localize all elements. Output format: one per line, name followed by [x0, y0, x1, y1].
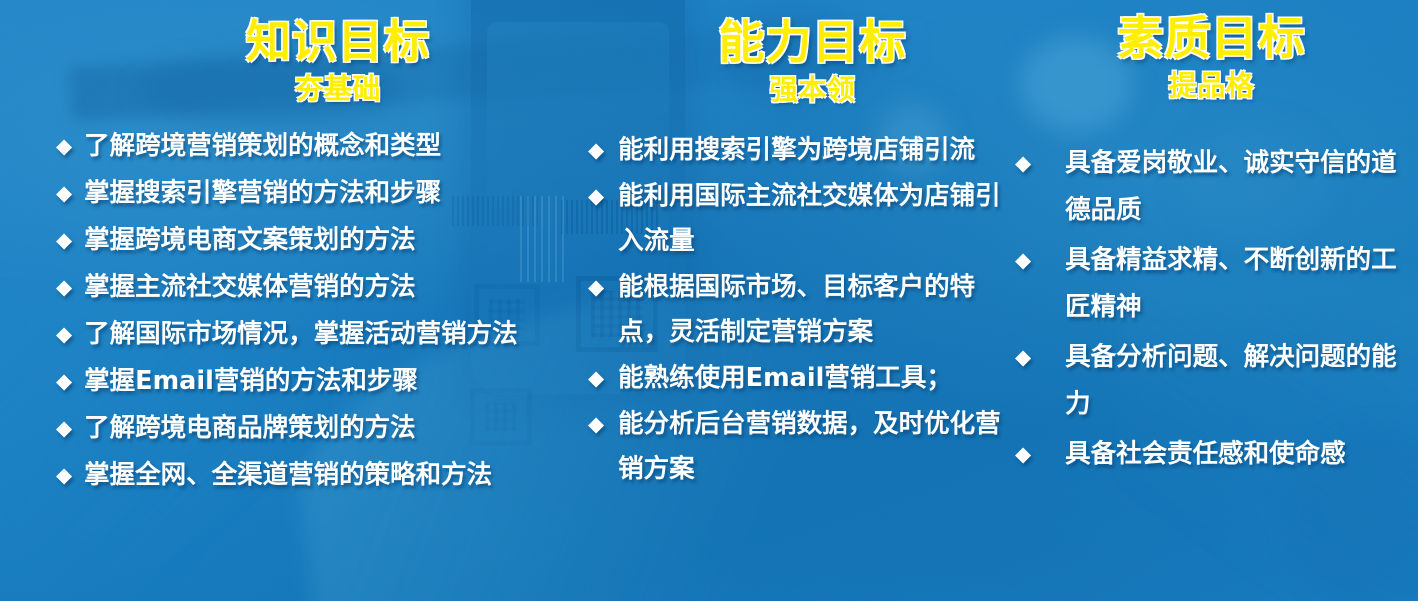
- diamond-bullet-icon: ◆: [56, 405, 72, 451]
- diamond-bullet-icon: ◆: [56, 264, 72, 310]
- diamond-bullet-icon: ◆: [588, 265, 604, 310]
- list-item-text: 具备精益求精、不断创新的工匠精神: [1065, 237, 1418, 331]
- diamond-bullet-icon: ◆: [588, 128, 604, 173]
- column-title-ability: 能力目标: [610, 18, 1015, 66]
- list-item-text: 能利用国际主流社交媒体为店铺引入流量: [618, 174, 1015, 264]
- diamond-bullet-icon: ◆: [1015, 431, 1031, 478]
- list-item: ◆ 了解跨境电商品牌策划的方法: [56, 405, 600, 451]
- list-item: ◆ 掌握Email营销的方法和步骤: [56, 358, 600, 404]
- diamond-bullet-icon: ◆: [588, 402, 604, 447]
- list-item-text: 具备爱岗敬业、诚实守信的道德品质: [1065, 140, 1418, 234]
- heading-block-quality: 素质目标 提品格: [1005, 0, 1418, 104]
- list-item-text: 具备社会责任感和使命感: [1065, 431, 1418, 478]
- list-item: ◆ 能分析后台营销数据，及时优化营销方案: [588, 402, 1015, 492]
- list-item: ◆ 掌握跨境电商文案策划的方法: [56, 217, 600, 263]
- list-item: ◆ 能利用搜索引擎为跨境店铺引流: [588, 128, 1015, 173]
- list-item-text: 了解跨境营销策划的概念和类型: [84, 123, 600, 169]
- list-item-text: 了解跨境电商品牌策划的方法: [84, 405, 600, 451]
- diamond-bullet-icon: ◆: [1015, 237, 1031, 284]
- list-item: ◆ 具备分析问题、解决问题的能力: [1015, 334, 1418, 428]
- column-quality-goals: 素质目标 提品格 ◆ 具备爱岗敬业、诚实守信的道德品质 ◆ 具备精益求精、不断创…: [1005, 0, 1418, 601]
- list-item: ◆ 具备精益求精、不断创新的工匠精神: [1015, 237, 1418, 331]
- list-item-text: 能根据国际市场、目标客户的特点，灵活制定营销方案: [618, 265, 1015, 355]
- column-knowledge-goals: 知识目标 夯基础 ◆ 了解跨境营销策划的概念和类型 ◆ 掌握搜索引擎营销的方法和…: [40, 0, 600, 601]
- list-item-text: 能熟练使用Email营销工具；: [618, 356, 1015, 401]
- column-ability-goals: 能力目标 强本领 ◆ 能利用搜索引擎为跨境店铺引流 ◆ 能利用国际主流社交媒体为…: [580, 0, 1015, 601]
- list-item: ◆ 能利用国际主流社交媒体为店铺引入流量: [588, 174, 1015, 264]
- slide-root: 知识目标 夯基础 ◆ 了解跨境营销策划的概念和类型 ◆ 掌握搜索引擎营销的方法和…: [0, 0, 1418, 601]
- list-item-text: 掌握全网、全渠道营销的策略和方法: [84, 452, 600, 498]
- diamond-bullet-icon: ◆: [56, 452, 72, 498]
- diamond-bullet-icon: ◆: [56, 311, 72, 357]
- diamond-bullet-icon: ◆: [1015, 140, 1031, 187]
- column-subtitle-quality: 提品格: [1005, 64, 1418, 104]
- list-item-text: 掌握主流社交媒体营销的方法: [84, 264, 600, 310]
- list-item: ◆ 掌握全网、全渠道营销的策略和方法: [56, 452, 600, 498]
- list-item: ◆ 能熟练使用Email营销工具；: [588, 356, 1015, 401]
- list-item: ◆ 了解跨境营销策划的概念和类型: [56, 123, 600, 169]
- list-item: ◆ 具备社会责任感和使命感: [1015, 431, 1418, 478]
- diamond-bullet-icon: ◆: [588, 356, 604, 401]
- list-item: ◆ 能根据国际市场、目标客户的特点，灵活制定营销方案: [588, 265, 1015, 355]
- column-subtitle-knowledge: 夯基础: [76, 67, 600, 107]
- diamond-bullet-icon: ◆: [1015, 334, 1031, 381]
- column-title-knowledge: 知识目标: [76, 18, 600, 65]
- list-item: ◆ 了解国际市场情况，掌握活动营销方法: [56, 311, 600, 357]
- list-item: ◆ 具备爱岗敬业、诚实守信的道德品质: [1015, 140, 1418, 234]
- diamond-bullet-icon: ◆: [56, 358, 72, 404]
- list-item-text: 掌握跨境电商文案策划的方法: [84, 217, 600, 263]
- diamond-bullet-icon: ◆: [56, 123, 72, 169]
- slide-content: 知识目标 夯基础 ◆ 了解跨境营销策划的概念和类型 ◆ 掌握搜索引擎营销的方法和…: [0, 0, 1418, 601]
- list-item-text: 了解国际市场情况，掌握活动营销方法: [84, 311, 600, 357]
- list-item-text: 具备分析问题、解决问题的能力: [1065, 334, 1418, 428]
- list-item-text: 能利用搜索引擎为跨境店铺引流: [618, 128, 1015, 173]
- diamond-bullet-icon: ◆: [56, 217, 72, 263]
- diamond-bullet-icon: ◆: [56, 170, 72, 216]
- heading-block-knowledge: 知识目标 夯基础: [40, 0, 600, 107]
- bullet-list-quality: ◆ 具备爱岗敬业、诚实守信的道德品质 ◆ 具备精益求精、不断创新的工匠精神 ◆ …: [1005, 140, 1418, 478]
- bullet-list-knowledge: ◆ 了解跨境营销策划的概念和类型 ◆ 掌握搜索引擎营销的方法和步骤 ◆ 掌握跨境…: [40, 123, 600, 498]
- heading-block-ability: 能力目标 强本领: [580, 0, 1015, 108]
- diamond-bullet-icon: ◆: [588, 174, 604, 219]
- list-item-text: 能分析后台营销数据，及时优化营销方案: [618, 402, 1015, 492]
- list-item: ◆ 掌握主流社交媒体营销的方法: [56, 264, 600, 310]
- list-item-text: 掌握Email营销的方法和步骤: [84, 358, 600, 404]
- bullet-list-ability: ◆ 能利用搜索引擎为跨境店铺引流 ◆ 能利用国际主流社交媒体为店铺引入流量 ◆ …: [580, 128, 1015, 492]
- list-item-text: 掌握搜索引擎营销的方法和步骤: [84, 170, 600, 216]
- list-item: ◆ 掌握搜索引擎营销的方法和步骤: [56, 170, 600, 216]
- column-subtitle-ability: 强本领: [610, 68, 1015, 108]
- column-title-quality: 素质目标: [1005, 14, 1418, 62]
